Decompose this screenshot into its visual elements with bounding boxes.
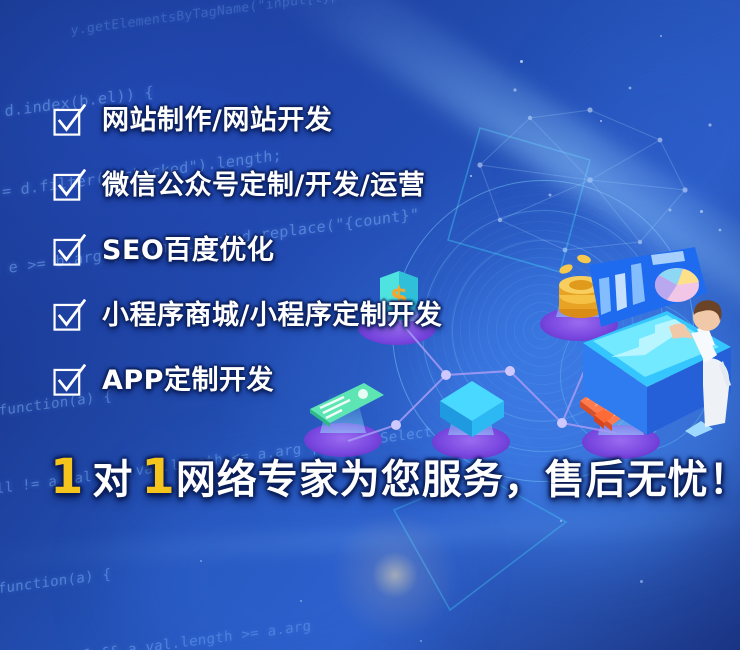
code-line: null != a.val && a.val.length >= a.arg <box>0 599 456 650</box>
feature-item-label: 小程序商城/小程序定制开发 <box>102 293 442 332</box>
feature-item-label: 网站制作/网站开发 <box>102 98 332 137</box>
feature-item-label: 微信公众号定制/开发/运营 <box>102 163 425 202</box>
feature-item-4[interactable]: 小程序商城/小程序定制开发 <box>52 291 672 356</box>
star-particle <box>420 640 422 642</box>
promo-banner: y.getElementsByTagName("input[type=check… <box>0 0 740 650</box>
star-particle <box>660 35 662 37</box>
star-particle <box>520 60 523 63</box>
feature-item-2[interactable]: 微信公众号定制/开发/运营 <box>52 161 672 226</box>
code-line: : function(a) { <box>0 521 454 601</box>
feature-list: 网站制作/网站开发 微信公众号定制/开发/运营 SEO百度优化 小程序商城/小程… <box>52 96 672 421</box>
checkbox-checked-icon[interactable] <box>52 234 86 268</box>
lens-flare <box>320 500 470 650</box>
headline-number-one-first: 1 <box>50 449 84 505</box>
checkbox-checked-icon[interactable] <box>52 364 86 398</box>
feature-item-5[interactable]: APP定制开发 <box>52 356 672 421</box>
headline: 1对1网络专家为您服务，售后无忧！ <box>50 447 740 505</box>
star-particle <box>560 520 562 522</box>
checkbox-checked-icon[interactable] <box>52 299 86 333</box>
headline-main-text: 网络专家为您服务，售后无忧！ <box>176 457 740 503</box>
star-particle <box>300 600 302 602</box>
star-particle <box>200 560 202 562</box>
feature-item-label: SEO百度优化 <box>102 228 274 267</box>
code-line: y.getElementsByTagName("input[type=check… <box>71 0 445 39</box>
feature-item-1[interactable]: 网站制作/网站开发 <box>52 96 672 161</box>
checkbox-checked-icon[interactable] <box>52 169 86 203</box>
feature-item-label: APP定制开发 <box>102 358 274 397</box>
light-beam <box>0 504 740 567</box>
headline-relation-word: 对 <box>92 457 133 503</box>
star-particle <box>700 210 703 213</box>
feature-item-3[interactable]: SEO百度优化 <box>52 226 672 291</box>
star-particle <box>640 580 643 583</box>
checkbox-checked-icon[interactable] <box>52 104 86 138</box>
headline-number-one-second: 1 <box>141 449 175 505</box>
